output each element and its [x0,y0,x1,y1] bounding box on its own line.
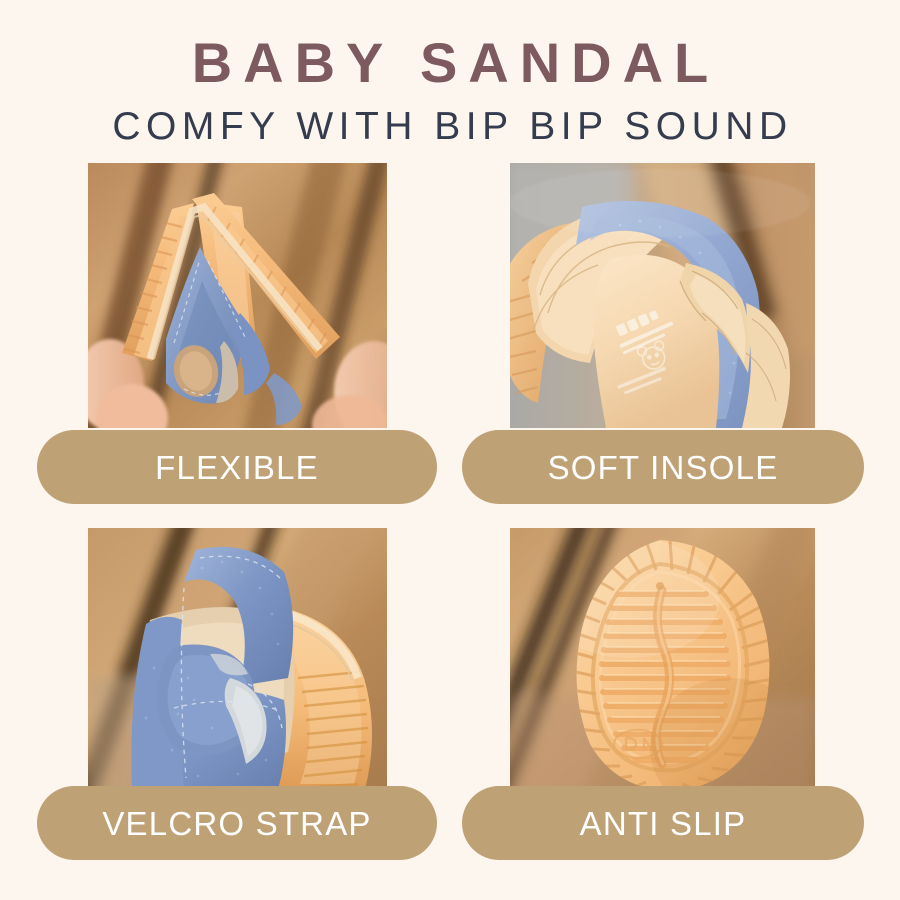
sandal-outsole-tread-photo [510,528,815,793]
feature-label-pill-velcro-strap: VELCRO STRAP [37,786,437,860]
poster-header: BABY SANDAL COMFY WITH BIP BIP SOUND [0,0,900,148]
feature-label-pill-soft-insole: SOFT INSOLE [462,430,864,504]
feature-label-pill-flexible: FLEXIBLE [37,430,437,504]
feature-label-soft-insole: SOFT INSOLE [548,451,779,484]
feature-label-anti-slip: ANTI SLIP [580,807,747,840]
feature-label-flexible: FLEXIBLE [155,451,319,484]
sandal-bent-in-hand-photo [88,163,387,428]
page-subtitle: COMFY WITH BIP BIP SOUND [0,107,900,148]
feature-label-velcro-strap: VELCRO STRAP [102,807,371,840]
product-infographic-poster: BABY SANDAL COMFY WITH BIP BIP SOUND [0,0,900,900]
sandal-insole-closeup-photo [510,163,815,428]
page-title: BABY SANDAL [0,34,900,93]
sandal-velcro-strap-photo [88,528,387,793]
feature-label-pill-anti-slip: ANTI SLIP [462,786,864,860]
